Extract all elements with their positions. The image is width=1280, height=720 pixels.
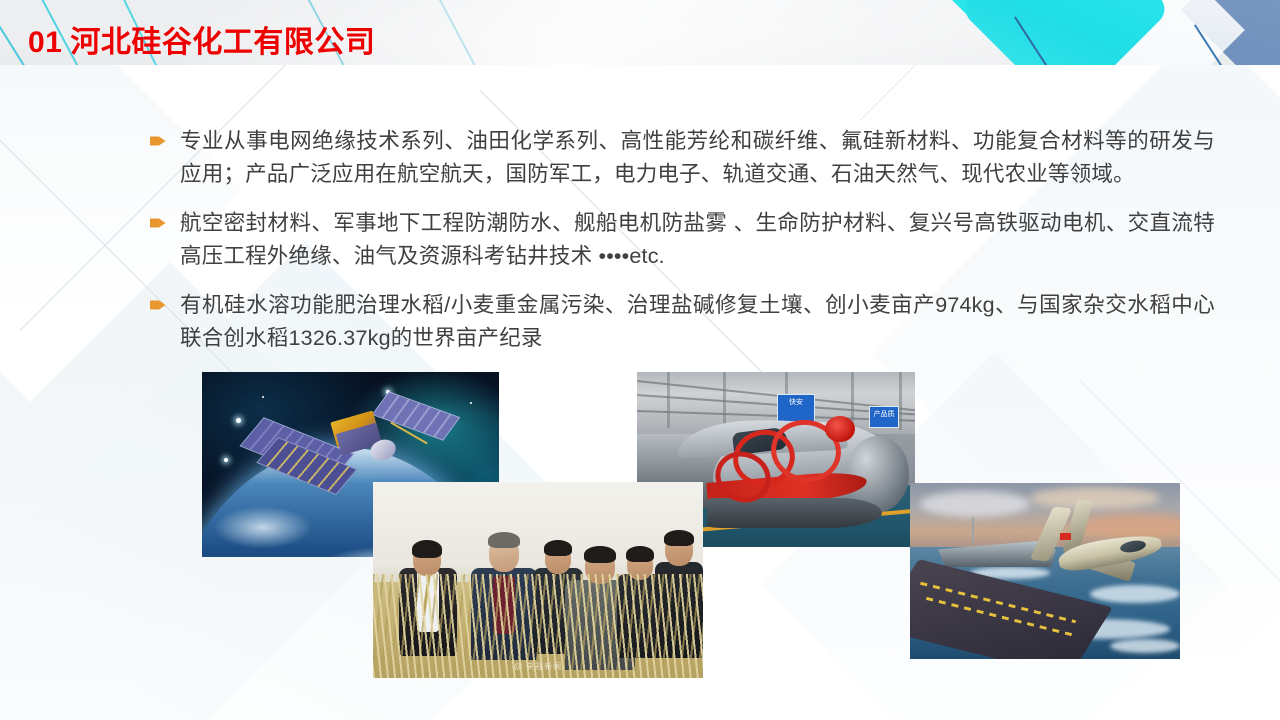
cloud — [1080, 513, 1180, 537]
ceiling-beam — [899, 372, 902, 430]
sea-foam — [1090, 585, 1180, 603]
star — [224, 458, 228, 462]
page-title: 01河北硅谷化工有限公司 — [28, 17, 375, 61]
bullet-item: 航空密封材料、军事地下工程防潮防水、舰船电机防盐雾 、生命防护材料、复兴号高铁驱… — [150, 207, 1215, 273]
star — [236, 418, 241, 423]
factory-sign-text: 快安 — [778, 397, 814, 407]
bullet-list: 专业从事电网绝缘技术系列、油田化学系列、高性能芳纶和碳纤维、氟硅新材料、功能复合… — [150, 125, 1215, 371]
train-skirt — [707, 498, 882, 528]
arrow-bullet-icon — [150, 216, 166, 228]
arrow-bullet-icon — [150, 298, 166, 310]
rice-field-photo: @ 央视新闻 — [373, 482, 703, 678]
person-hair — [584, 546, 616, 563]
bullet-text: 专业从事电网绝缘技术系列、油田化学系列、高性能芳纶和碳纤维、氟硅新材料、功能复合… — [180, 125, 1215, 191]
slide-root: 01河北硅谷化工有限公司 专业从事电网绝缘技术系列、油田化学系列、高性能芳纶和碳… — [0, 0, 1280, 720]
bullet-item: 有机硅水溶功能肥治理水稻/小麦重金属污染、治理盐碱修复土壤、创小麦亩产974kg… — [150, 289, 1215, 355]
person-hair — [664, 530, 694, 546]
person-hair — [626, 546, 654, 562]
aircraft-carrier-photo — [910, 483, 1180, 659]
cloud — [920, 491, 1030, 517]
star — [470, 402, 472, 404]
photo-watermark: @ 央视新闻 — [514, 661, 562, 672]
factory-sign-text: 产品质 — [870, 409, 898, 419]
ceiling-beam — [667, 372, 670, 428]
bullet-text: 航空密封材料、军事地下工程防潮防水、舰船电机防盐雾 、生命防护材料、复兴号高铁驱… — [180, 207, 1215, 273]
cloud — [1030, 487, 1160, 509]
jet-flag-marking — [1060, 533, 1071, 540]
sea-foam — [1110, 639, 1180, 653]
person-hair — [488, 532, 520, 548]
arrow-bullet-icon — [150, 134, 166, 146]
page-title-text: 河北硅谷化工有限公司 — [70, 26, 375, 59]
ship-mast — [972, 517, 974, 543]
ceiling-beam — [723, 372, 726, 424]
red-flower-decoration — [825, 416, 855, 442]
factory-sign: 快安 — [777, 394, 815, 422]
bullet-text: 有机硅水溶功能肥治理水稻/小麦重金属污染、治理盐碱修复土壤、创小麦亩产974kg… — [180, 289, 1215, 355]
page-title-number: 01 — [28, 26, 62, 59]
person-hair — [412, 540, 442, 558]
ceiling-beam — [851, 372, 854, 426]
star — [262, 396, 264, 398]
bullet-item: 专业从事电网绝缘技术系列、油田化学系列、高性能芳纶和碳纤维、氟硅新材料、功能复合… — [150, 125, 1215, 191]
factory-sign: 产品质 — [869, 406, 899, 428]
